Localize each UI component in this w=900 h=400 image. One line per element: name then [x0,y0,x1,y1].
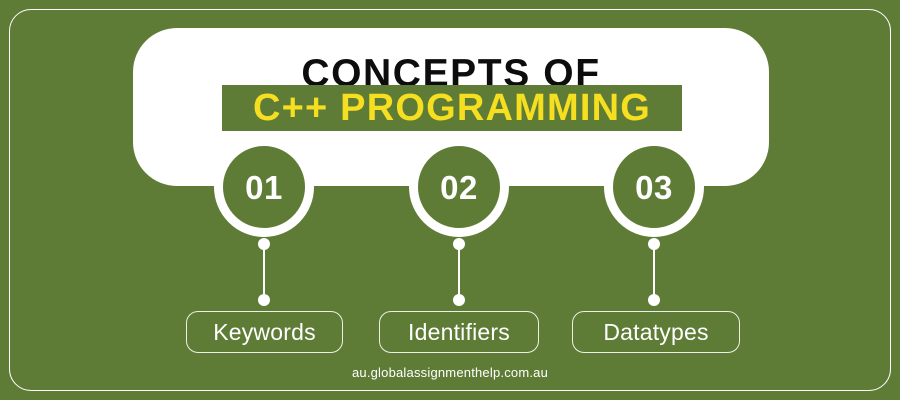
step-label-pill-datatypes[interactable]: Datatypes [572,311,740,353]
step-number-02: 02 [440,171,478,204]
step-circle-01[interactable]: 01 [214,137,314,237]
page-title-banner: C++ PROGRAMMING [222,85,682,131]
infographic-canvas: CONCEPTS OF C++ PROGRAMMING 01 Keywords … [0,0,900,400]
connector-dot-bottom-03 [648,294,660,306]
step-number-03: 03 [635,171,673,204]
step-connector-03 [648,238,660,306]
step-label-pill-identifiers[interactable]: Identifiers [379,311,539,353]
step-connector-01 [258,238,270,306]
connector-dot-bottom-01 [258,294,270,306]
step-connector-02 [453,238,465,306]
page-title-line2: C++ PROGRAMMING [253,89,651,127]
connector-dot-bottom-02 [453,294,465,306]
footer-url[interactable]: au.globalassignmenthelp.com.au [0,365,900,380]
connector-line-01 [263,242,265,302]
step-label-03: Datatypes [603,321,708,344]
step-circle-02[interactable]: 02 [409,137,509,237]
connector-line-03 [653,242,655,302]
step-label-pill-keywords[interactable]: Keywords [186,311,343,353]
step-label-01: Keywords [213,321,316,344]
connector-line-02 [458,242,460,302]
step-number-01: 01 [245,171,283,204]
step-label-02: Identifiers [408,321,510,344]
step-circle-03[interactable]: 03 [604,137,704,237]
